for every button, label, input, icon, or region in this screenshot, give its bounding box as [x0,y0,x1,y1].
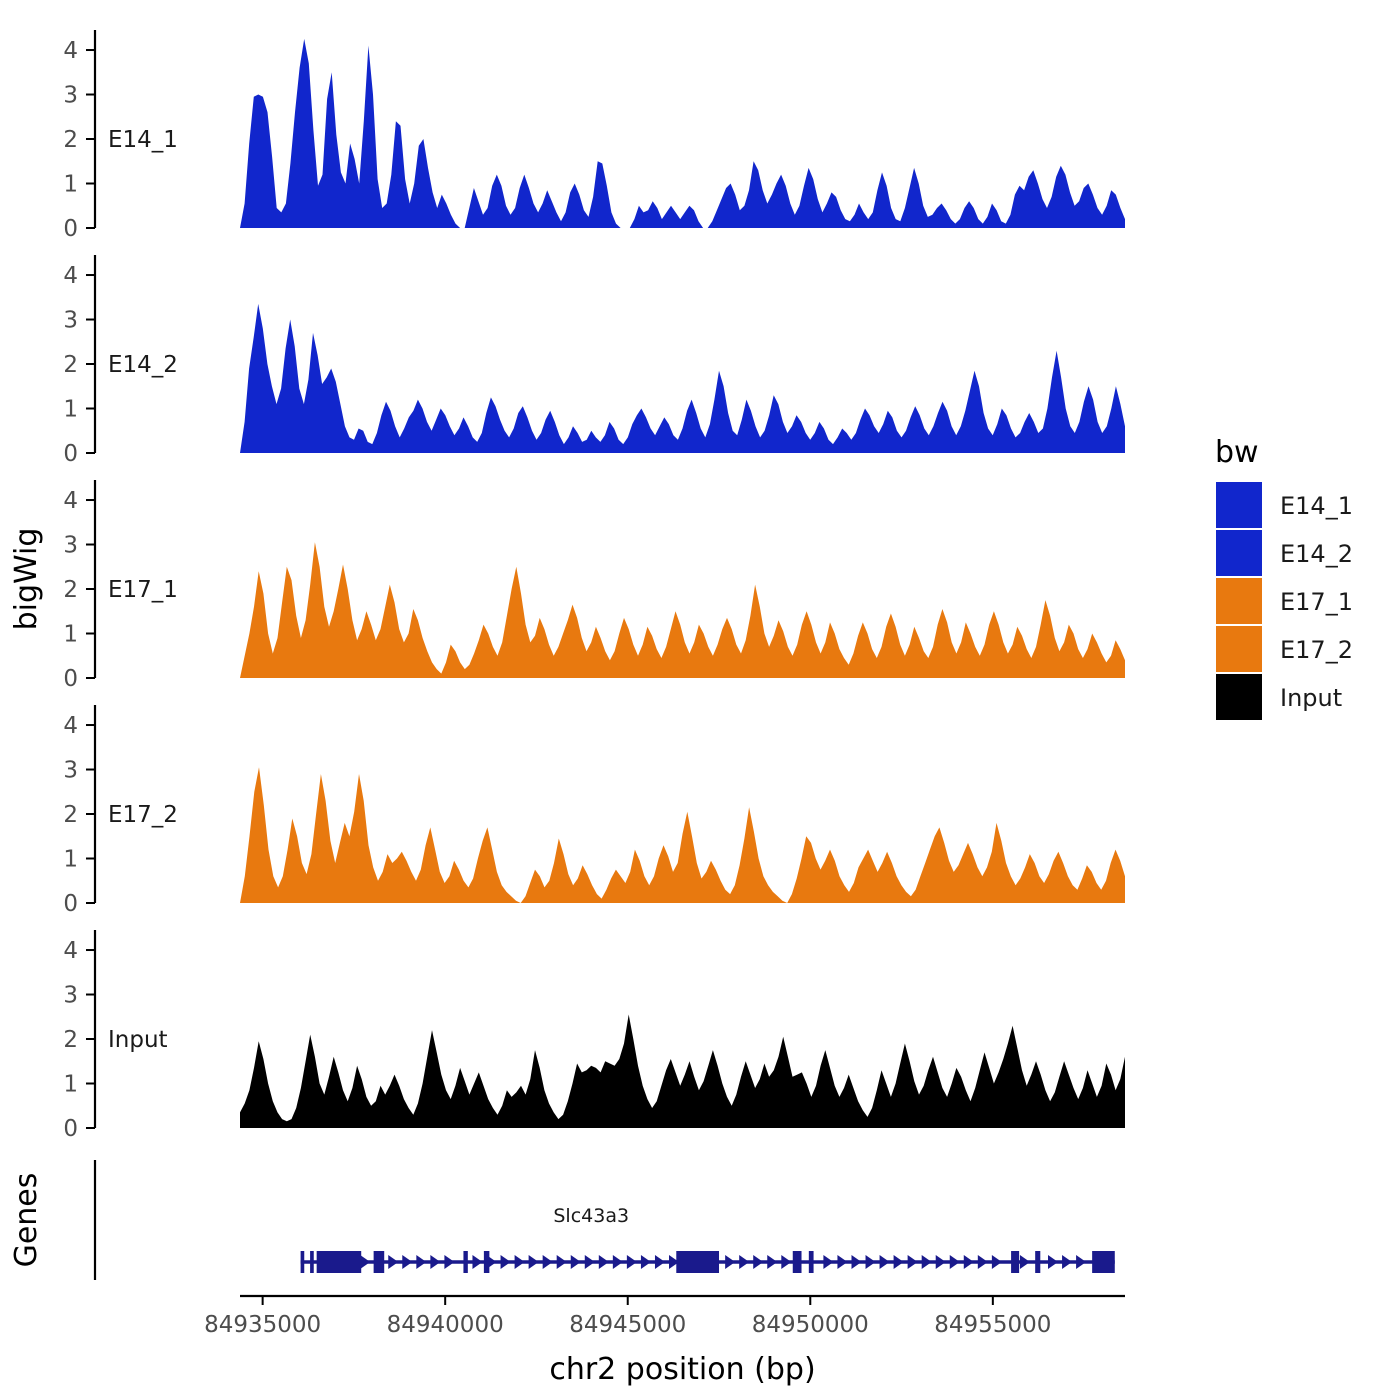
legend-swatch-e17_1[interactable] [1216,578,1262,624]
gene-strand-arrow [936,1255,946,1269]
legend-label-e14_2: E14_2 [1280,540,1353,568]
gene-strand-arrow [837,1255,847,1269]
panel-label-input: Input [108,1027,168,1053]
gene-strand-arrow [964,1255,974,1269]
genes-axis-title: Genes [9,1173,44,1268]
legend-label-e14_1: E14_1 [1280,492,1353,520]
gene-exon [1092,1251,1115,1273]
gene-strand-arrow [767,1255,777,1269]
track-panel-e14_2: 01234E14_2 [63,255,1125,467]
gene-strand-arrow [1048,1255,1058,1269]
gene-strand-arrow [655,1255,665,1269]
gene-strand-arrow [557,1255,567,1269]
gene-strand-arrow [880,1255,890,1269]
gene-exon [310,1251,314,1273]
gene-strand-arrow [515,1255,525,1269]
gene-strand-arrow [402,1255,412,1269]
gene-strand-arrow [894,1255,904,1269]
legend-label-input: Input [1280,684,1342,712]
gene-exon [676,1251,719,1273]
x-axis: 8493500084940000849450008495000084955000… [204,1296,1125,1387]
track-area-e14_1 [240,39,1125,228]
legend: bwE14_1E14_2E17_1E17_2Input [1215,435,1353,720]
gene-strand-arrow [613,1255,623,1269]
y-tick-label-0: 0 [63,441,78,467]
gene-strand-arrow [627,1255,637,1269]
gene-strand-arrow [978,1255,988,1269]
gene-strand-arrow [1062,1255,1072,1269]
y-tick-label-4: 4 [63,938,78,964]
figure-root: 01234E14_101234E14_201234E17_101234E17_2… [0,0,1400,1400]
gene-strand-arrow [950,1255,960,1269]
track-area-e14_2 [240,304,1125,453]
track-panel-input: 01234Input [63,930,1125,1142]
y-tick-label-3: 3 [63,533,78,559]
x-axis-title: chr2 position (bp) [549,1352,815,1387]
x-tick-label-84955000: 84955000 [934,1312,1051,1338]
legend-label-e17_2: E17_2 [1280,636,1353,664]
y-tick-label-0: 0 [63,1116,78,1142]
gene-exon [793,1251,802,1273]
track-panel-e17_2: 01234E17_2 [63,705,1125,917]
y-tick-label-4: 4 [63,38,78,64]
y-tick-label-0: 0 [63,216,78,242]
y-tick-label-4: 4 [63,488,78,514]
gene-strand-arrow [430,1255,440,1269]
legend-swatch-e17_2[interactable] [1216,626,1262,672]
y-tick-label-1: 1 [63,1072,78,1098]
legend-swatch-e14_1[interactable] [1216,482,1262,528]
y-tick-label-1: 1 [63,397,78,423]
gene-strand-arrow [585,1255,595,1269]
legend-title: bw [1215,435,1259,470]
gene-strand-arrow [851,1255,861,1269]
gene-strand-arrow [866,1255,876,1269]
x-tick-label-84950000: 84950000 [752,1312,869,1338]
y-tick-label-4: 4 [63,713,78,739]
legend-label-e17_1: E17_1 [1280,588,1353,616]
panel-label-e17_2: E17_2 [108,802,178,828]
gene-strand-arrow [599,1255,609,1269]
y-tick-label-3: 3 [63,83,78,109]
bigwig-axis-title: bigWig [9,528,44,631]
gene-strand-arrow [1076,1255,1086,1269]
gene-name-label: Slc43a3 [553,1205,629,1227]
gene-exon [809,1251,814,1273]
gene-strand-arrow [641,1255,651,1269]
gene-strand-arrow [388,1255,398,1269]
y-tick-label-1: 1 [63,172,78,198]
y-tick-label-2: 2 [63,1027,78,1053]
gene-exon [1011,1251,1019,1273]
y-tick-label-3: 3 [63,983,78,1009]
gene-strand-arrow [529,1255,539,1269]
gene-exon [317,1251,362,1273]
gene-exon [1035,1251,1040,1273]
y-tick-label-3: 3 [63,308,78,334]
gene-strand-arrow [472,1255,482,1269]
y-tick-label-1: 1 [63,622,78,648]
track-panel-e17_1: 01234E17_1 [63,480,1125,692]
y-tick-label-2: 2 [63,577,78,603]
gene-strand-arrow [725,1255,735,1269]
y-tick-label-0: 0 [63,666,78,692]
gene-strand-arrow [543,1255,553,1269]
y-tick-label-1: 1 [63,847,78,873]
y-tick-label-3: 3 [63,758,78,784]
x-tick-label-84940000: 84940000 [387,1312,504,1338]
y-tick-label-2: 2 [63,127,78,153]
track-area-e17_2 [240,767,1125,903]
gene-strand-arrow [416,1255,426,1269]
track-panel-e14_1: 01234E14_1 [63,30,1125,242]
gene-strand-arrow [753,1255,763,1269]
panel-label-e17_1: E17_1 [108,577,178,603]
x-tick-label-84945000: 84945000 [569,1312,686,1338]
x-tick-label-84935000: 84935000 [204,1312,321,1338]
y-tick-label-2: 2 [63,802,78,828]
track-area-e17_1 [240,542,1125,678]
y-tick-label-2: 2 [63,352,78,378]
gene-strand-arrow [992,1255,1002,1269]
gene-strand-arrow [360,1255,370,1269]
gene-exon [463,1251,467,1273]
legend-swatch-input[interactable] [1216,674,1262,720]
gene-strand-arrow [444,1255,454,1269]
gene-strand-arrow [823,1255,833,1269]
gene-strand-arrow [501,1255,511,1269]
legend-swatch-e14_2[interactable] [1216,530,1262,576]
gene-exon [484,1251,489,1273]
gene-exon [374,1251,385,1273]
gene-strand-arrow [922,1255,932,1269]
gene-strand-arrow [908,1255,918,1269]
genome-browser-figure: 01234E14_101234E14_201234E17_101234E17_2… [0,0,1400,1400]
panel-label-e14_2: E14_2 [108,352,178,378]
y-tick-label-4: 4 [63,263,78,289]
gene-exon [301,1251,305,1273]
genes-panel: GenesSlc43a3 [9,1160,1115,1280]
gene-strand-arrow [739,1255,749,1269]
gene-strand-arrow [1020,1255,1030,1269]
gene-strand-arrow [781,1255,791,1269]
track-area-input [240,1015,1125,1129]
gene-strand-arrow [571,1255,581,1269]
panel-label-e14_1: E14_1 [108,127,178,153]
y-tick-label-0: 0 [63,891,78,917]
